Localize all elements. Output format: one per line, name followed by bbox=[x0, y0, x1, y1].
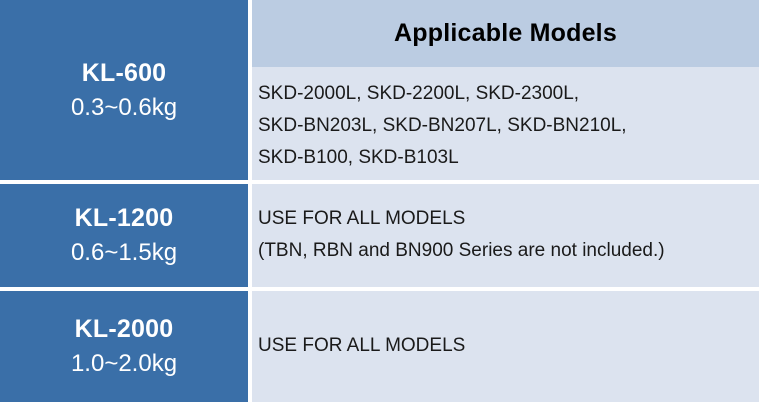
model-cell-kl-2000: KL-2000 1.0~2.0kg bbox=[0, 291, 248, 402]
model-name-label: KL-2000 bbox=[75, 313, 174, 345]
applicable-models-row-1: SKD-2000L, SKD-2200L, SKD-2300L, SKD-BN2… bbox=[258, 78, 627, 174]
applicable-models-line: USE FOR ALL MODELS bbox=[258, 330, 465, 362]
header-title-label: Applicable Models bbox=[394, 19, 617, 48]
applicable-models-row-3: USE FOR ALL MODELS bbox=[258, 330, 465, 362]
row-divider-2 bbox=[0, 287, 759, 291]
model-weight-label: 0.3~0.6kg bbox=[71, 92, 177, 123]
applicable-models-line: (TBN, RBN and BN900 Series are not inclu… bbox=[258, 235, 665, 267]
model-weight-label: 1.0~2.0kg bbox=[71, 348, 177, 379]
applicable-models-line: USE FOR ALL MODELS bbox=[258, 203, 665, 235]
applicable-models-line: SKD-B100, SKD-B103L bbox=[258, 142, 627, 174]
applicable-models-line: SKD-BN203L, SKD-BN207L, SKD-BN210L, bbox=[258, 110, 627, 142]
row-divider-1 bbox=[0, 180, 759, 184]
model-name-label: KL-1200 bbox=[75, 202, 174, 234]
model-cell-kl-600: KL-600 0.3~0.6kg bbox=[0, 0, 248, 180]
specification-table: Applicable Models KL-600 0.3~0.6kg SKD-2… bbox=[0, 0, 759, 402]
column-divider bbox=[248, 0, 252, 402]
applicable-models-line: SKD-2000L, SKD-2200L, SKD-2300L, bbox=[258, 78, 627, 110]
model-cell-kl-1200: KL-1200 0.6~1.5kg bbox=[0, 184, 248, 287]
applicable-models-row-2: USE FOR ALL MODELS (TBN, RBN and BN900 S… bbox=[258, 203, 665, 267]
model-weight-label: 0.6~1.5kg bbox=[71, 237, 177, 268]
model-name-label: KL-600 bbox=[82, 57, 167, 89]
table-header-applicable-models: Applicable Models bbox=[252, 0, 759, 67]
